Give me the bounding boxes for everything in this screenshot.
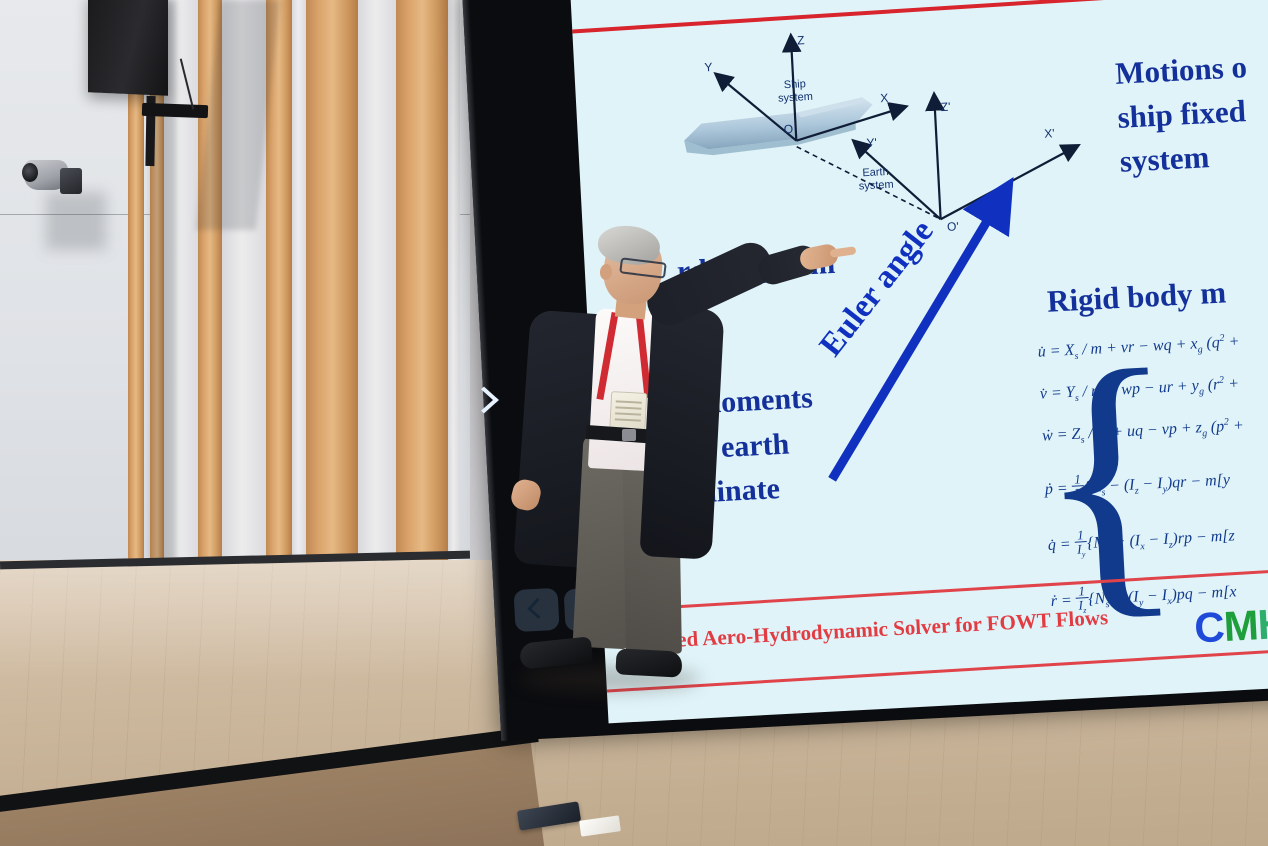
screenshot-root: 6DoF motion mod [0,0,1268,846]
speaker-bracket [142,103,208,118]
shoe-left [519,636,593,669]
wood-slat [306,0,358,640]
wall-slat-light [358,0,396,640]
cmhl-logo: CMHL [1193,598,1268,652]
fraction: 1 Ix [1071,472,1085,505]
axis-label-X: X [880,91,889,105]
fraction: 1 Iy [1074,528,1088,561]
axis-label-Zprime: Z' [940,100,950,114]
axis-label-O: O [783,122,793,136]
rigid-body-equations: u̇ = Xs / m + vr − wq + xg (q2 + v̇ = Ys… [1037,327,1268,642]
shoe-right [615,648,682,677]
wood-slat [128,0,144,640]
presenter [500,228,730,708]
axis-label-Y: Y [704,60,713,74]
jacket-right-panel [640,306,725,559]
logo-letter-c: C [1193,603,1225,652]
belt-buckle [622,429,636,441]
axis-label-Xprime: X' [1044,126,1055,141]
axis-label-Z: Z [797,33,805,47]
wall-slat-light [448,0,460,640]
logo-letter-h: H [1256,600,1268,649]
motions-text-block: Motions o ship fixed system [1114,45,1252,184]
logo-letter-m: M [1222,601,1258,651]
camera-shadow [46,192,106,250]
ceiling-speaker [88,0,168,96]
wall-slat-light [292,0,306,640]
axis-label-Yprime: Y' [866,136,877,151]
euler-angle-label: Euler angle [813,214,942,364]
wood-slat [396,0,448,640]
camera-lens-icon [22,163,38,182]
ship-system-label: Ship system [777,78,813,106]
camera-mount [60,168,82,194]
